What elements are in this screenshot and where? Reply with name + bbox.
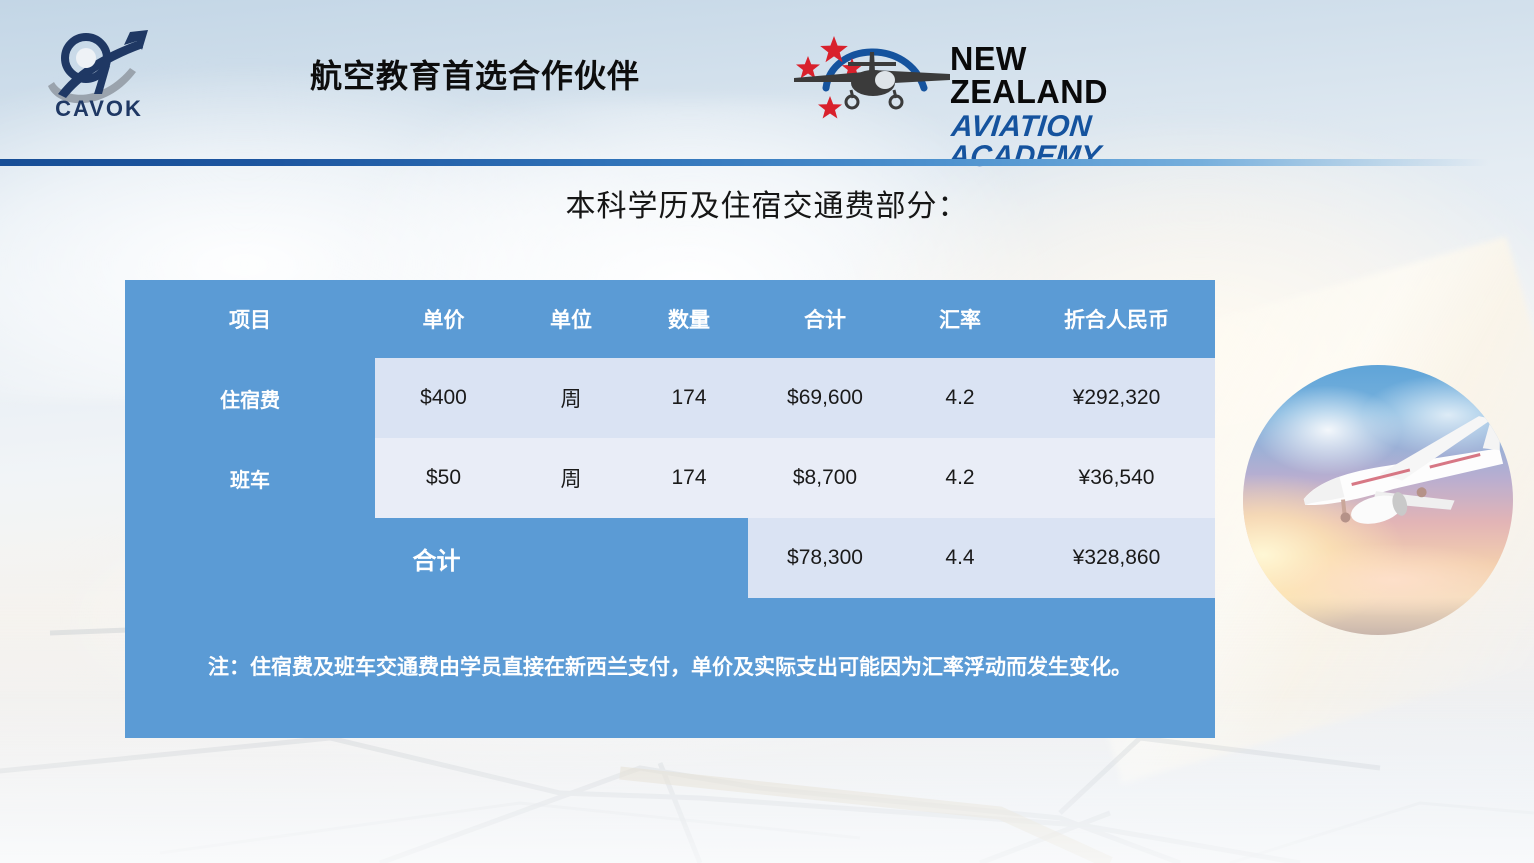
cell-subtotal: $69,600 bbox=[748, 358, 902, 438]
column-header-quantity: 数量 bbox=[630, 280, 748, 358]
cavok-logo-text: CAVOK bbox=[55, 96, 143, 120]
airplane-stars-mark-icon bbox=[790, 26, 960, 122]
slide-header: CAVOK 航空教育首选合作伙伴 bbox=[0, 0, 1534, 160]
cell-unit-price: $50 bbox=[375, 438, 512, 518]
cell-unit: 周 bbox=[512, 358, 630, 438]
slide-title: 本科学历及住宿交通费部分： bbox=[0, 181, 1534, 225]
cell-rate: 4.2 bbox=[902, 358, 1018, 438]
cost-table: 项目 单价 单位 数量 合计 汇率 折合人民币 住宿费 $400 周 174 $… bbox=[125, 280, 1215, 738]
column-header-cny: 折合人民币 bbox=[1018, 280, 1215, 358]
cell-quantity: 174 bbox=[630, 438, 748, 518]
column-header-item: 项目 bbox=[125, 280, 375, 358]
total-rate: 4.4 bbox=[902, 518, 1018, 598]
table-note-row: 注：住宿费及班车交通费由学员直接在新西兰支付，单价及实际支出可能因为汇率浮动而发… bbox=[125, 598, 1215, 738]
cell-quantity: 174 bbox=[630, 358, 748, 438]
cell-rate: 4.2 bbox=[902, 438, 1018, 518]
table-note: 注：住宿费及班车交通费由学员直接在新西兰支付，单价及实际支出可能因为汇率浮动而发… bbox=[125, 598, 1215, 738]
slide-canvas: CAVOK 航空教育首选合作伙伴 bbox=[0, 0, 1534, 863]
row-label-shuttle: 班车 bbox=[125, 438, 375, 518]
header-title: 航空教育首选合作伙伴 bbox=[310, 51, 640, 97]
column-header-subtotal: 合计 bbox=[748, 280, 902, 358]
table-header-row: 项目 单价 单位 数量 合计 汇率 折合人民币 bbox=[125, 280, 1215, 358]
header-divider-rule bbox=[0, 159, 1534, 166]
table-total-row: 合计 $78,300 4.4 ¥328,860 bbox=[125, 518, 1215, 598]
table-row: 班车 $50 周 174 $8,700 4.2 ¥36,540 bbox=[125, 438, 1215, 518]
nz-aviation-academy-logo: NEW ZEALAND AVIATION ACADEMY bbox=[790, 26, 1170, 122]
table-row: 住宿费 $400 周 174 $69,600 4.2 ¥292,320 bbox=[125, 358, 1215, 438]
cavok-logo: CAVOK bbox=[44, 28, 154, 120]
airplane-sunset-photo bbox=[1243, 365, 1513, 635]
column-header-unit-price: 单价 bbox=[375, 280, 512, 358]
total-cny: ¥328,860 bbox=[1018, 518, 1215, 598]
cell-unit-price: $400 bbox=[375, 358, 512, 438]
cell-cny: ¥36,540 bbox=[1018, 438, 1215, 518]
cell-subtotal: $8,700 bbox=[748, 438, 902, 518]
partner-logo-line1: NEW ZEALAND bbox=[950, 42, 1166, 108]
cell-cny: ¥292,320 bbox=[1018, 358, 1215, 438]
total-row-label: 合计 bbox=[125, 518, 748, 598]
row-label-accommodation: 住宿费 bbox=[125, 358, 375, 438]
column-header-unit: 单位 bbox=[512, 280, 630, 358]
total-subtotal: $78,300 bbox=[748, 518, 902, 598]
cell-unit: 周 bbox=[512, 438, 630, 518]
column-header-rate: 汇率 bbox=[902, 280, 1018, 358]
